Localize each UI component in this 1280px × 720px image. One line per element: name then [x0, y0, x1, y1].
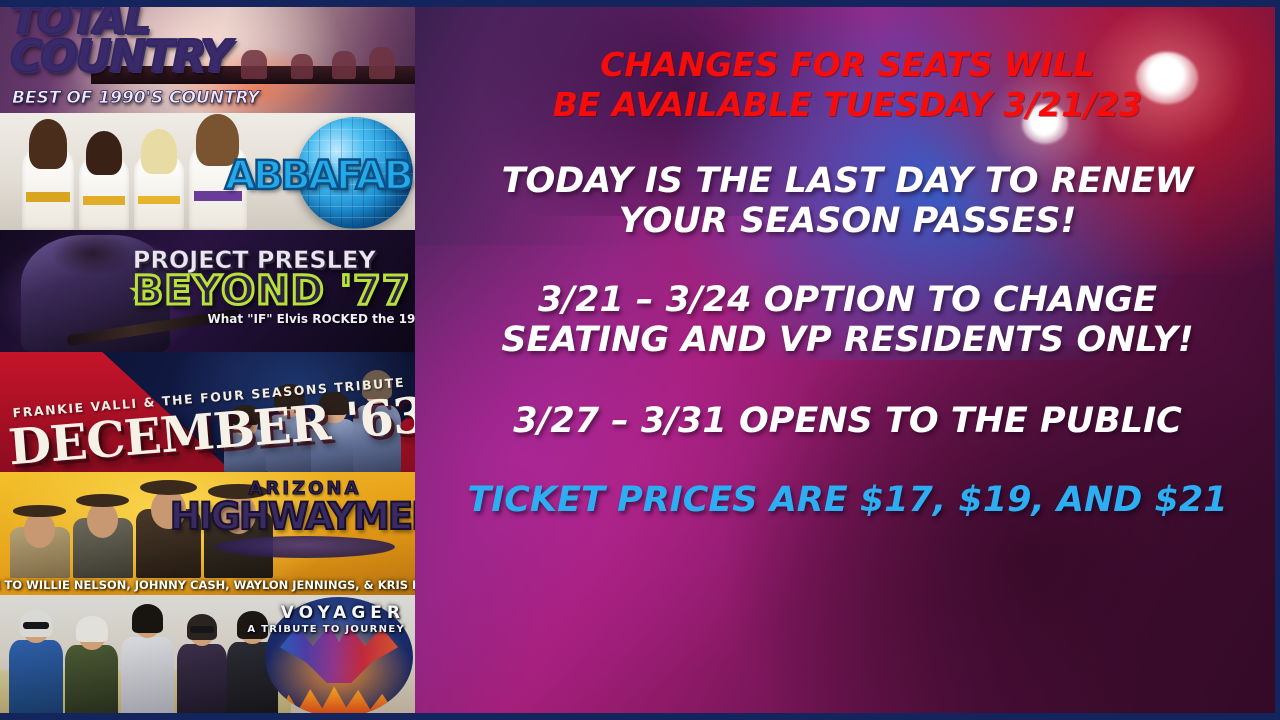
- slide-border-right: [1275, 0, 1280, 720]
- poster-december-63[interactable]: FRANKIE VALLI & THE FOUR SEASONS TRIBUTE…: [0, 352, 415, 472]
- poster-arizona-highwaymen[interactable]: ARIZONA HIGHWAYMEN PAYING TRIBUTE TO WIL…: [0, 472, 415, 595]
- announcement-slide: TOTAL COUNTRY BEST OF 1990'S COUNTRY: [0, 0, 1280, 720]
- spacer: [415, 442, 1280, 480]
- announcement-text-block: CHANGES FOR SEATS WILL BE AVAILABLE TUES…: [415, 0, 1280, 720]
- renew-line-2: YOUR SEASON PASSES!: [415, 201, 1280, 242]
- spacer: [415, 127, 1280, 161]
- window1-line-2: SEATING AND VP RESIDENTS ONLY!: [415, 320, 1280, 361]
- ticket-prices-line: TICKET PRICES ARE $17, $19, AND $21: [415, 480, 1280, 521]
- performer-silhouette: [369, 47, 395, 79]
- flames-decoration: [279, 681, 399, 715]
- highwaymen-logo: ARIZONA HIGHWAYMEN: [199, 478, 411, 562]
- performer-silhouette: [241, 50, 267, 79]
- poster-abbafab[interactable]: ABBAFAB: [0, 113, 415, 230]
- spacer: [415, 242, 1280, 280]
- poster-tribute-line: PAYING TRIBUTE TO WILLIE NELSON, JOHNNY …: [0, 578, 415, 592]
- poster-voyager[interactable]: VOYAGER A TRIBUTE TO JOURNEY: [0, 595, 415, 720]
- poster-subtitle: BEST OF 1990'S COUNTRY: [12, 88, 259, 108]
- poster-subtitle: What "IF" Elvis ROCKED the 1980s!: [208, 312, 416, 326]
- announcement-panel: CHANGES FOR SEATS WILL BE AVAILABLE TUES…: [415, 0, 1280, 720]
- poster-total-country[interactable]: TOTAL COUNTRY BEST OF 1990'S COUNTRY: [0, 0, 415, 113]
- window2-line-1: 3/27 – 3/31 OPENS TO THE PUBLIC: [415, 401, 1280, 442]
- poster-main-line: BEYOND '77: [133, 268, 411, 314]
- slide-border-bottom: [0, 713, 1280, 720]
- voyager-performers: [4, 603, 270, 720]
- poster-column: TOTAL COUNTRY BEST OF 1990'S COUNTRY: [0, 0, 415, 720]
- poster-subtitle: A TRIBUTE TO JOURNEY: [247, 624, 405, 635]
- window1-line-1: 3/21 – 3/24 OPTION TO CHANGE: [415, 280, 1280, 321]
- poster-title-line2: COUNTRY: [10, 38, 230, 76]
- logo-scrollwork-decoration: [215, 536, 395, 558]
- poster-main-line: HIGHWAYMEN: [170, 495, 415, 538]
- performer-silhouette: [332, 51, 356, 79]
- renew-line-1: TODAY IS THE LAST DAY TO RENEW: [415, 161, 1280, 202]
- poster-project-presley[interactable]: PROJECT PRESLEY BEYOND '77 What "IF" Elv…: [0, 230, 415, 352]
- performer-silhouette: [291, 54, 313, 79]
- changes-line-1: CHANGES FOR SEATS WILL: [415, 46, 1280, 84]
- spacer: [415, 361, 1280, 401]
- slide-border-top: [0, 0, 1280, 7]
- poster-title: VOYAGER: [281, 603, 405, 623]
- poster-wordmark: ABBAFAB: [225, 153, 411, 199]
- changes-line-2: BE AVAILABLE TUESDAY 3/21/23: [415, 86, 1280, 124]
